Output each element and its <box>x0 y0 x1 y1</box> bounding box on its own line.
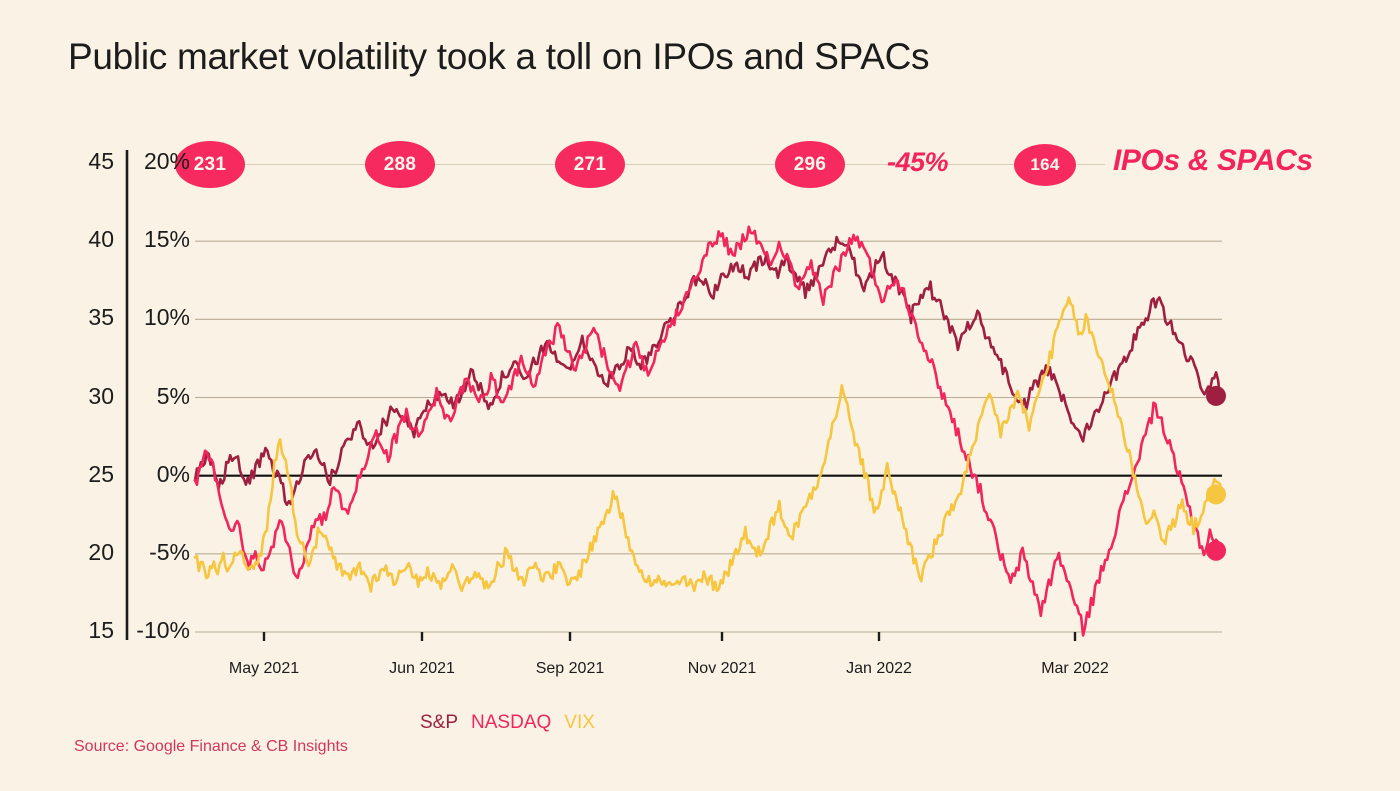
legend-item-s-p[interactable]: S&P <box>420 712 458 734</box>
y-axis-percent-tick: 15% <box>128 226 190 253</box>
y-axis-vix-tick: 45 <box>68 148 114 175</box>
end-marker-s-p <box>1206 386 1226 406</box>
source-note: Source: Google Finance & CB Insights <box>74 738 348 756</box>
y-axis-vix-tick: 15 <box>68 617 114 644</box>
x-axis-tick-label: Mar 2022 <box>1015 660 1135 678</box>
y-axis-percent-tick: 0% <box>128 461 190 488</box>
y-axis-vix-tick: 40 <box>68 226 114 253</box>
y-axis-percent-tick: 5% <box>128 383 190 410</box>
series-line-vix <box>195 298 1222 592</box>
series-line-s-p <box>195 237 1222 505</box>
y-axis-vix-tick: 20 <box>68 539 114 566</box>
x-axis-tick-label: May 2021 <box>204 660 324 678</box>
end-marker-vix <box>1206 484 1226 504</box>
y-axis-percent-tick: -5% <box>128 539 190 566</box>
chart-legend: S&PNASDAQVIX <box>420 712 595 734</box>
end-marker-nasdaq <box>1206 541 1226 561</box>
y-axis-vix-tick: 25 <box>68 461 114 488</box>
x-axis-tick-label: Sep 2021 <box>510 660 630 678</box>
y-axis-vix-tick: 30 <box>68 383 114 410</box>
y-axis-vix-tick: 35 <box>68 304 114 331</box>
y-axis-percent-tick: 20% <box>128 148 190 175</box>
x-axis-tick-label: Jan 2022 <box>819 660 939 678</box>
x-axis-tick-label: Jun 2021 <box>362 660 482 678</box>
legend-item-vix[interactable]: VIX <box>564 712 595 734</box>
legend-item-nasdaq[interactable]: NASDAQ <box>471 712 551 734</box>
y-axis-percent-tick: -10% <box>128 617 190 644</box>
market-volatility-chart: 20%4515%4010%355%300%25-5%20-10%15May 20… <box>0 0 1400 786</box>
x-axis-tick-label: Nov 2021 <box>662 660 782 678</box>
y-axis-percent-tick: 10% <box>128 304 190 331</box>
